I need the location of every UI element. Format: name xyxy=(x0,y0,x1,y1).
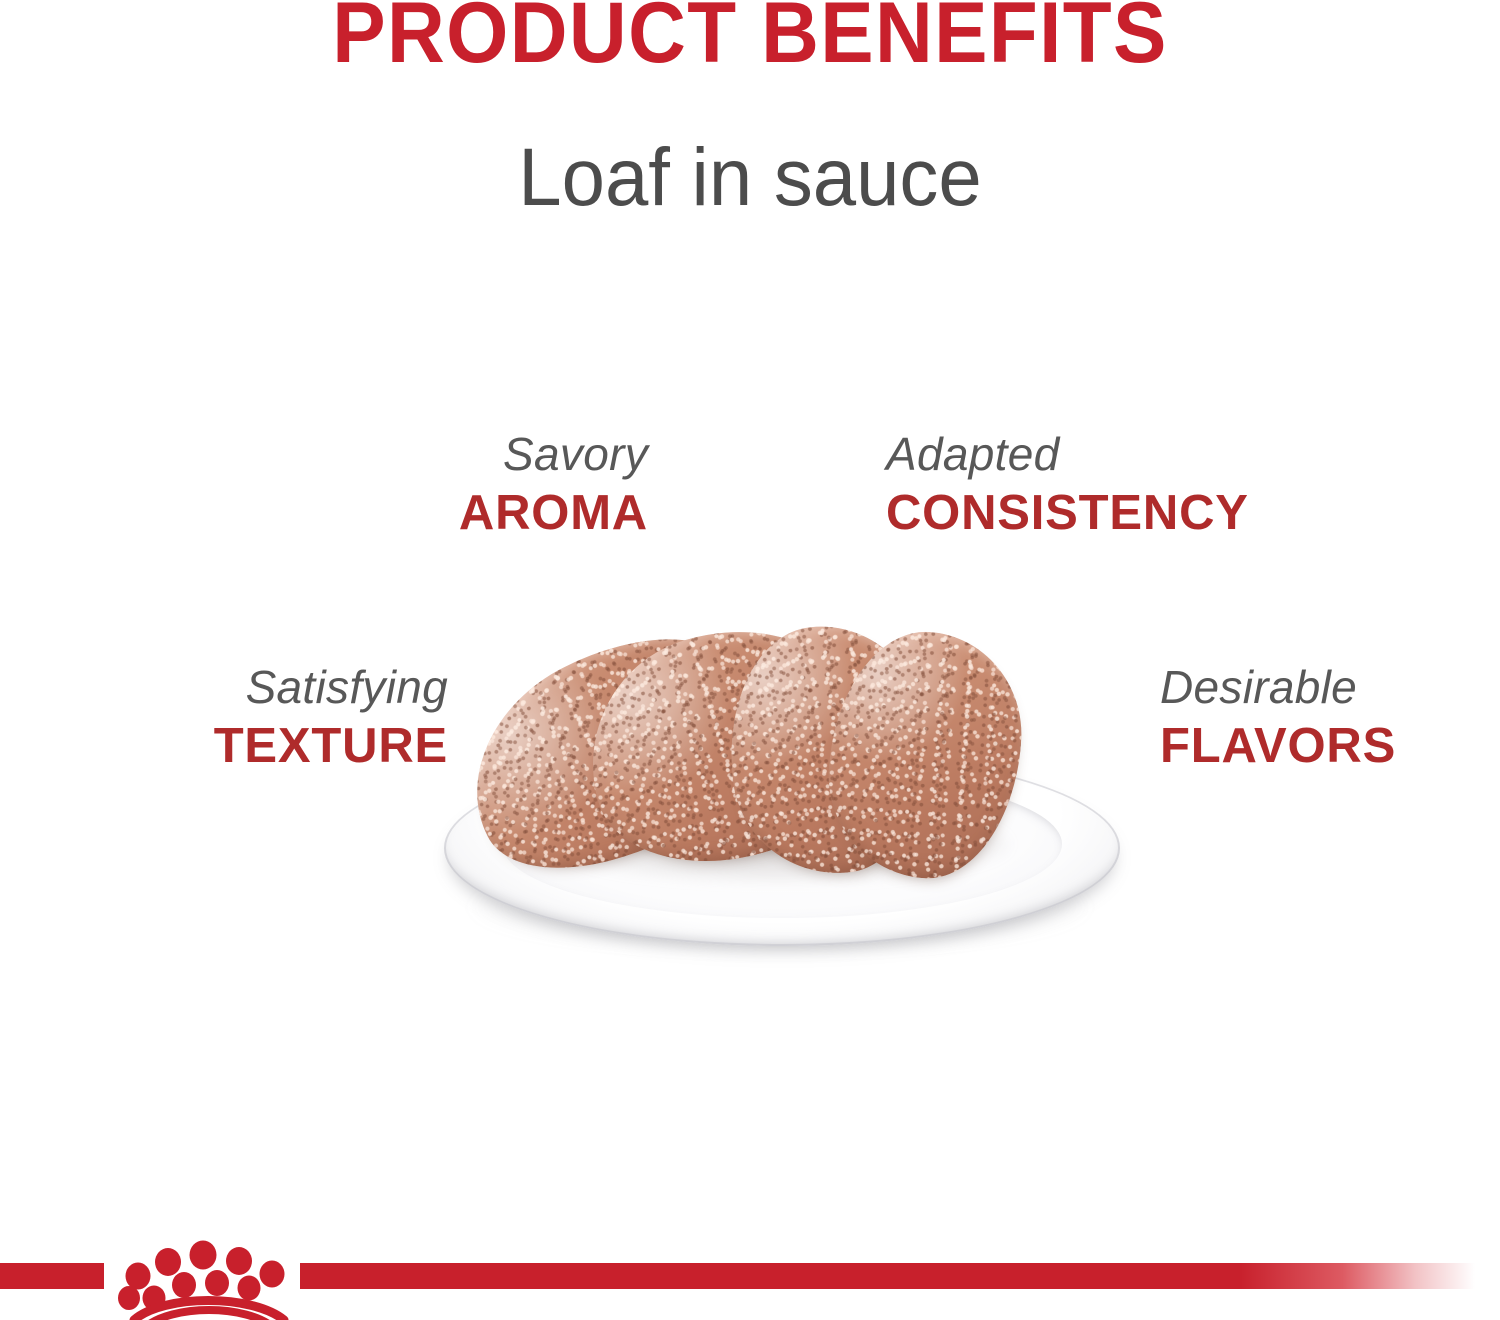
benefit-aroma-lead: Savory xyxy=(0,430,648,480)
benefit-consistency: Adapted CONSISTENCY xyxy=(886,430,1336,541)
royal-canin-crown-logo xyxy=(112,1228,308,1320)
benefit-consistency-label: CONSISTENCY xyxy=(886,486,1336,541)
product-photo xyxy=(430,600,1130,980)
benefit-aroma: Savory AROMA xyxy=(0,430,648,541)
benefit-consistency-lead: Adapted xyxy=(886,430,1336,480)
benefit-flavors-label: FLAVORS xyxy=(1160,719,1500,774)
benefit-flavors: Desirable FLAVORS xyxy=(1160,663,1500,774)
benefit-texture-label: TEXTURE xyxy=(0,719,448,774)
benefit-flavors-lead: Desirable xyxy=(1160,663,1500,713)
benefit-texture-lead: Satisfying xyxy=(0,663,448,713)
benefit-texture: Satisfying TEXTURE xyxy=(0,663,448,774)
benefit-aroma-label: AROMA xyxy=(0,486,648,541)
page-subtitle: Loaf in sauce xyxy=(38,133,1463,223)
page-title: PRODUCT BENEFITS xyxy=(53,0,1448,78)
product-benefits-panel: PRODUCT BENEFITS Loaf in sauce Savory AR… xyxy=(0,0,1500,1320)
